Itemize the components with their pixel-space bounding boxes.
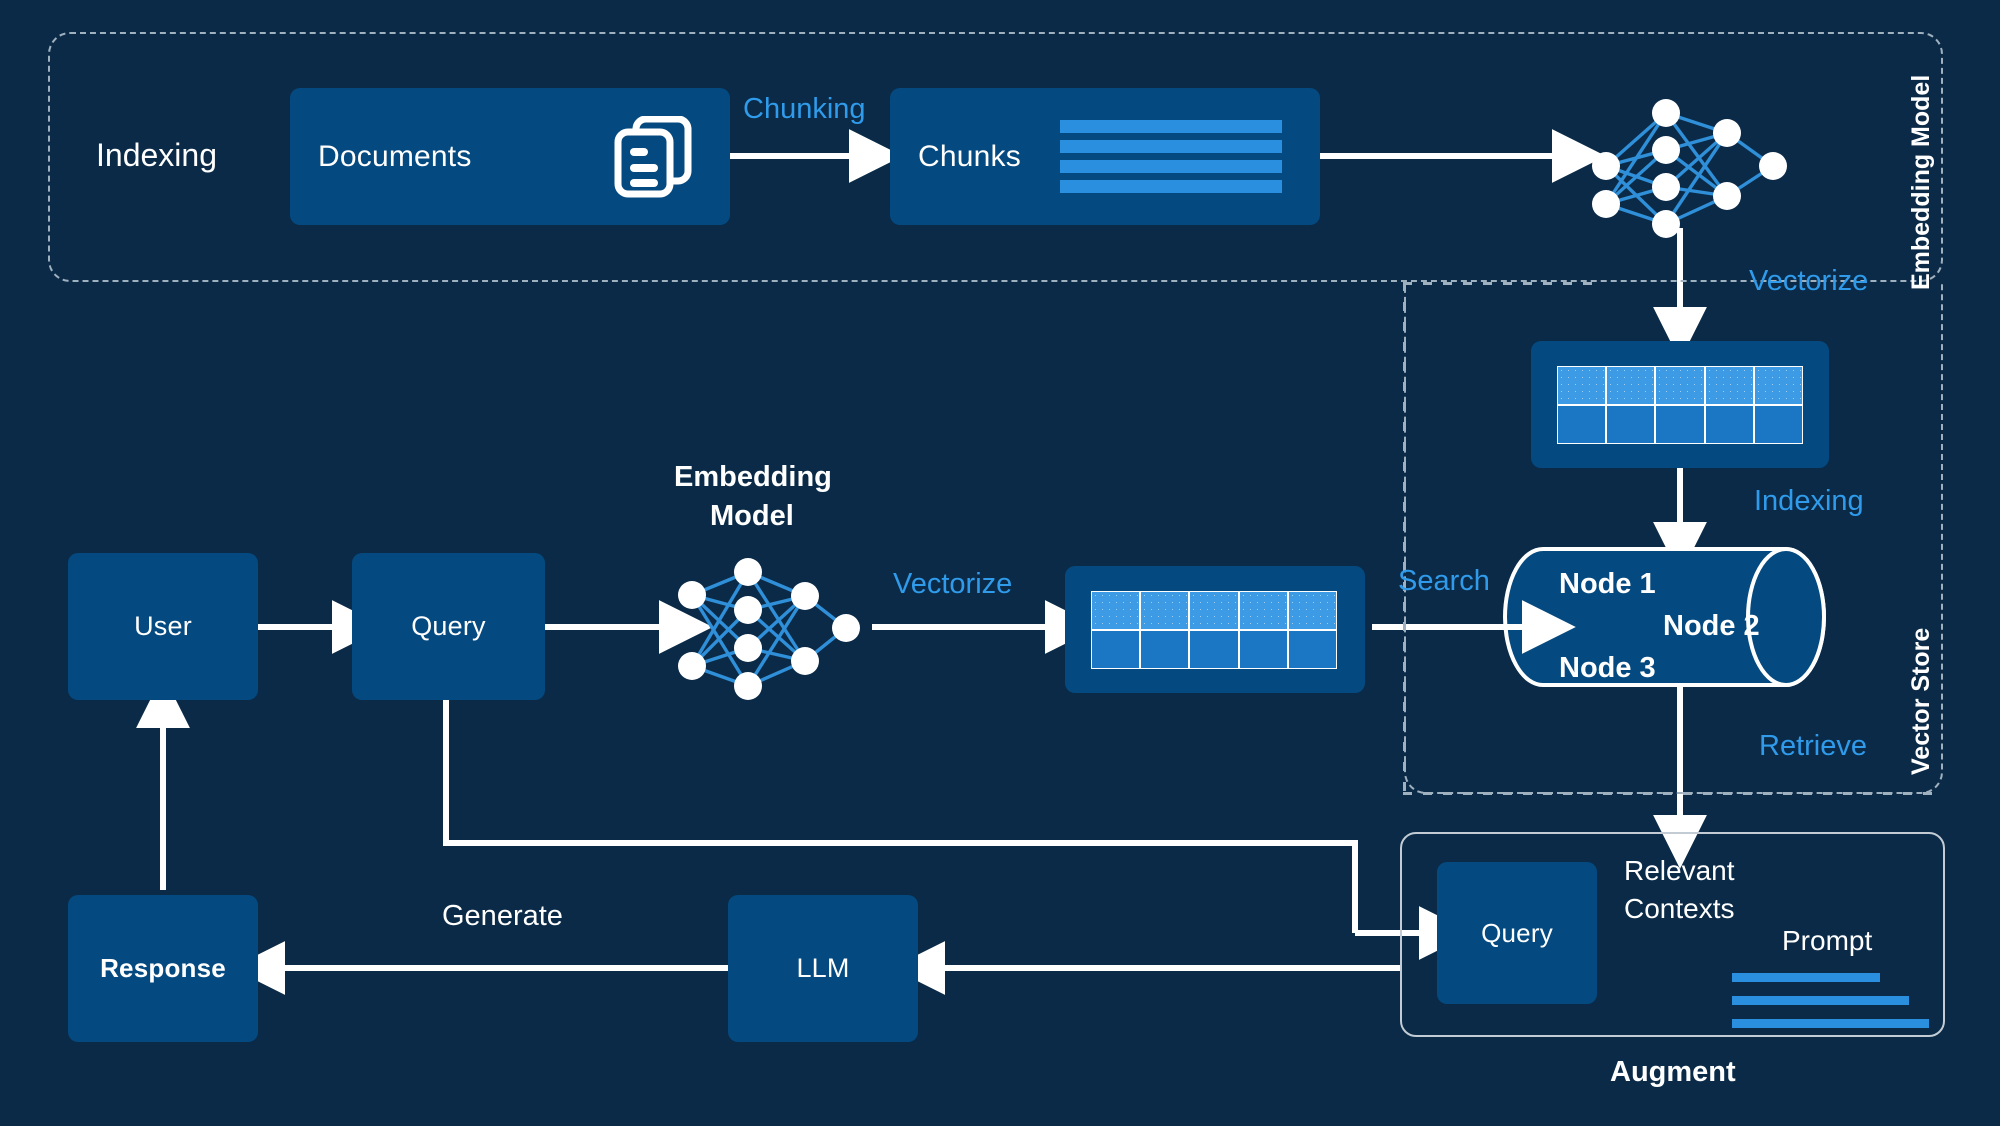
vector-row-dark [1091, 630, 1337, 669]
prompt-line [1732, 973, 1880, 982]
vector-store-group-label: Vector Store [1907, 628, 1936, 775]
relevant-contexts-line2: Contexts [1624, 893, 1735, 925]
prompt-line [1732, 996, 1909, 1005]
vector-store-node-3: Node 3 [1559, 652, 1656, 685]
embedding-model-label-line2: Model [710, 500, 794, 533]
documents-stack-icon [608, 116, 700, 203]
vector-cell [1239, 591, 1288, 630]
indexing-edge-label: Indexing [1754, 485, 1864, 518]
vector-cell [1557, 405, 1606, 444]
vector-store-node-1: Node 1 [1559, 568, 1656, 601]
vector-row-light [1091, 591, 1337, 630]
chunks-box[interactable]: Chunks [890, 88, 1320, 225]
vector-row-light [1557, 366, 1803, 405]
query-box[interactable]: Query [352, 553, 545, 700]
user-box-label: User [134, 611, 192, 642]
vector-cell [1606, 366, 1655, 405]
retrieval-dashed-bottom [1403, 792, 1943, 795]
vector-cell [1705, 366, 1754, 405]
vector-cell [1655, 405, 1704, 444]
vector-cell [1705, 405, 1754, 444]
chunk-line [1060, 140, 1282, 153]
vector-cell [1288, 591, 1337, 630]
text-lines-icon [1060, 120, 1282, 193]
vector-cell [1754, 405, 1803, 444]
chunk-line [1060, 160, 1282, 173]
vector-cell [1606, 405, 1655, 444]
retrieval-dashed-top [1403, 282, 1603, 285]
chunks-box-label: Chunks [918, 140, 1021, 174]
vectorize-label-query: Vectorize [893, 568, 1012, 601]
vector-cell [1557, 366, 1606, 405]
indexing-group-label: Indexing [96, 137, 217, 174]
llm-box[interactable]: LLM [728, 895, 918, 1042]
chunk-line [1060, 180, 1282, 193]
vector-grid-indexing [1557, 366, 1803, 444]
documents-box[interactable]: Documents [290, 88, 730, 225]
vector-cell [1189, 591, 1238, 630]
vectors-box-query [1065, 566, 1365, 693]
relevant-contexts-line1: Relevant [1624, 855, 1735, 887]
vector-grid-query [1091, 591, 1337, 669]
user-box[interactable]: User [68, 553, 258, 700]
augment-group-label: Augment [1610, 1056, 1736, 1089]
chunk-line [1060, 120, 1282, 133]
prompt-lines-icon [1732, 973, 1932, 1042]
vector-row-dark [1557, 405, 1803, 444]
vector-cell [1091, 591, 1140, 630]
vector-cell [1140, 591, 1189, 630]
vectorize-label-indexing: Vectorize [1749, 265, 1868, 298]
prompt-label: Prompt [1782, 925, 1872, 957]
retrieval-dashed-left [1403, 282, 1406, 794]
vector-cell [1754, 366, 1803, 405]
prompt-line [1732, 1019, 1929, 1028]
vector-cell [1239, 630, 1288, 669]
vector-cell [1189, 630, 1238, 669]
embedding-model-network-icon-query [678, 558, 860, 700]
vectors-box-indexing [1531, 341, 1829, 468]
vector-cell [1655, 366, 1704, 405]
retrieve-label: Retrieve [1759, 730, 1867, 763]
embedding-model-group-label: Embedding Model [1907, 75, 1936, 290]
query-box-label: Query [411, 611, 486, 642]
vector-cell [1288, 630, 1337, 669]
embedding-model-label-line1: Embedding [674, 461, 832, 494]
vector-store-node-2: Node 2 [1663, 610, 1760, 643]
generate-label: Generate [442, 900, 563, 933]
vector-cell [1091, 630, 1140, 669]
llm-box-label: LLM [796, 953, 849, 984]
chunking-label: Chunking [743, 93, 866, 126]
search-label: Search [1398, 565, 1490, 598]
rag-diagram-canvas: Indexing Documents Chunking Chunks Embed… [0, 0, 2000, 1126]
augment-query-box[interactable]: Query [1437, 862, 1597, 1004]
response-box-label: Response [100, 953, 226, 984]
response-box[interactable]: Response [68, 895, 258, 1042]
vector-cell [1140, 630, 1189, 669]
documents-box-label: Documents [318, 140, 472, 174]
augment-query-box-label: Query [1481, 918, 1553, 949]
